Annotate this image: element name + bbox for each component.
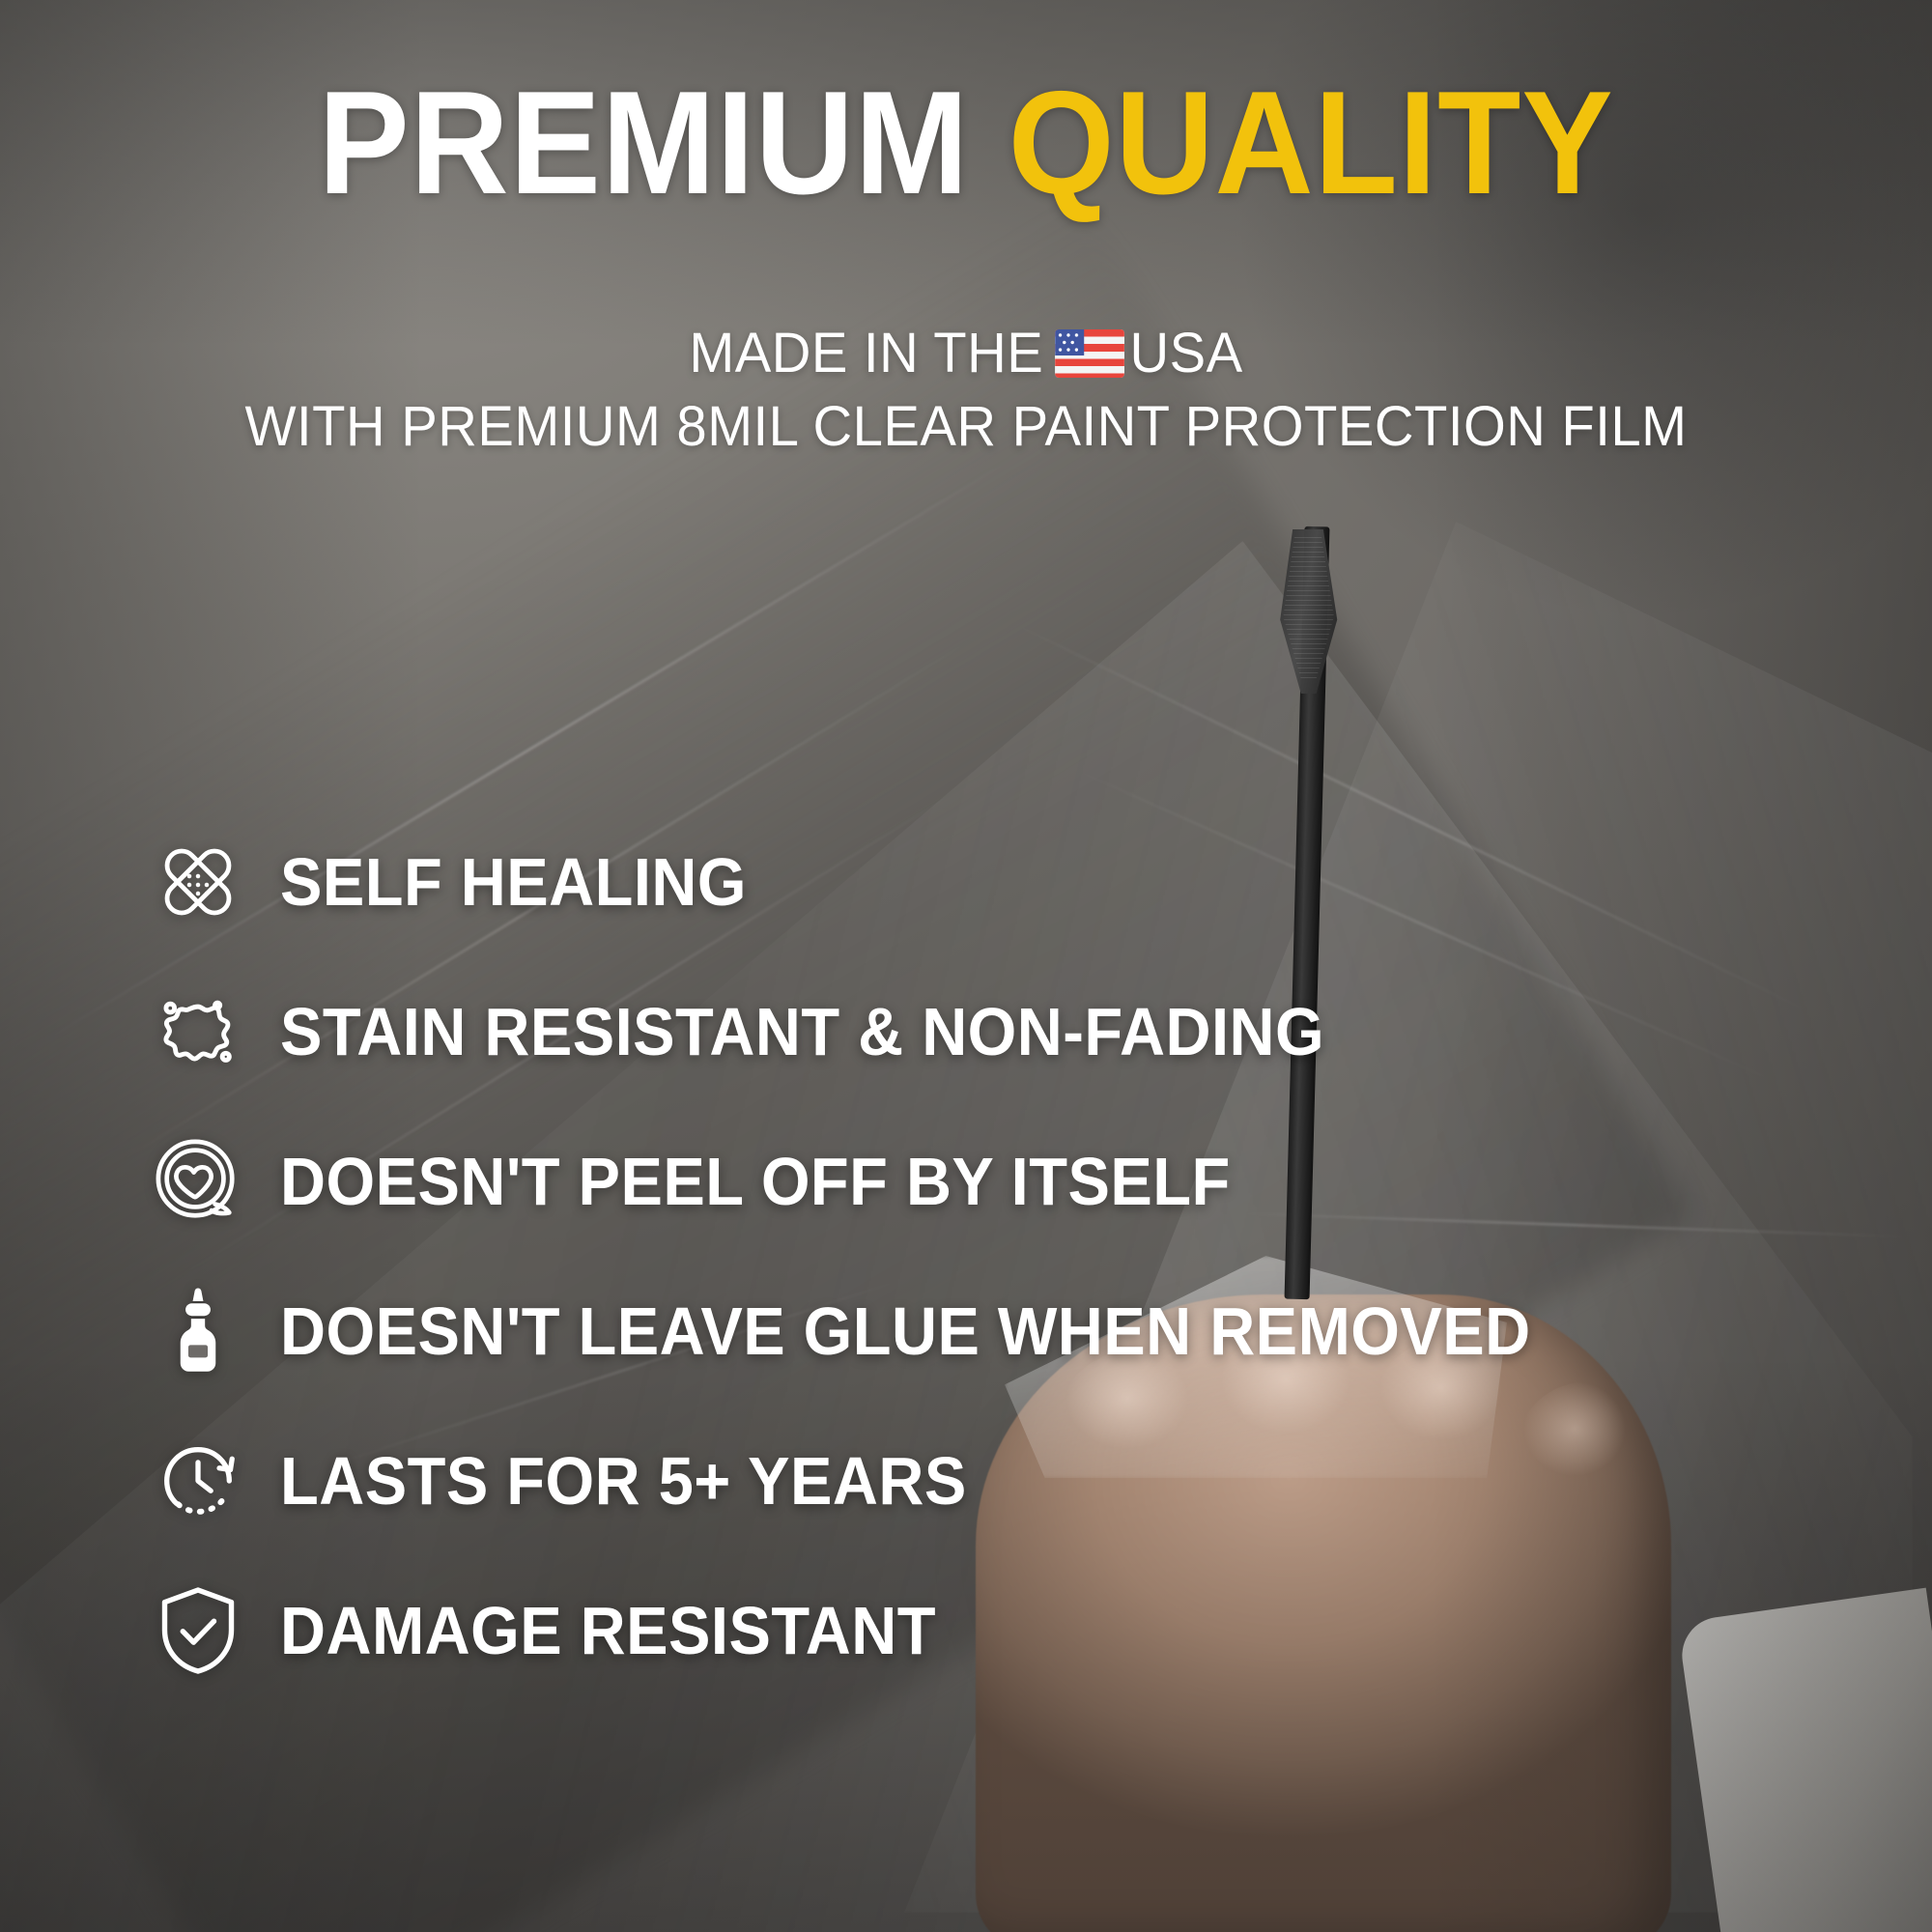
feature-item-damage-resistant: DAMAGE RESISTANT [145, 1555, 1787, 1705]
page-title: PREMIUM QUALITY [68, 70, 1864, 216]
feature-label: DOESN'T LEAVE GLUE WHEN REMOVED [280, 1293, 1531, 1370]
feature-label: LASTS FOR 5+ YEARS [280, 1442, 967, 1520]
page-title-primary: PREMIUM [318, 61, 1008, 225]
feature-item-lasts-5-years: LASTS FOR 5+ YEARS [145, 1406, 1787, 1555]
product-feature-graphic: PREMIUM QUALITY MADE IN THEUSA WITH PREM… [0, 0, 1932, 1932]
feature-label: STAIN RESISTANT & NON-FADING [280, 993, 1324, 1070]
clock-history-icon [145, 1428, 251, 1534]
bandage-icon [145, 829, 251, 935]
feature-item-no-peel: DOESN'T PEEL OFF BY ITSELF [145, 1106, 1787, 1256]
subtitle-made-in-the: MADE IN THE [689, 322, 1043, 384]
page-title-accent: QUALITY [1009, 61, 1614, 225]
feature-item-stain-resistant: STAIN RESISTANT & NON-FADING [145, 956, 1787, 1106]
shield-check-icon [145, 1577, 251, 1684]
feature-label: DAMAGE RESISTANT [280, 1592, 936, 1669]
subtitle-line-1: MADE IN THEUSA [29, 321, 1903, 385]
feature-item-no-glue-residue: DOESN'T LEAVE GLUE WHEN REMOVED [145, 1256, 1787, 1406]
glue-bottle-icon [145, 1278, 251, 1384]
feature-item-self-healing: SELF HEALING [145, 807, 1787, 956]
feature-list: SELF HEALING STAIN RESISTANT & NON-FADIN… [145, 807, 1787, 1705]
stain-splat-icon [145, 979, 251, 1085]
heart-peel-icon [145, 1128, 251, 1235]
subtitle-line-2: WITH PREMIUM 8MIL CLEAR PAINT PROTECTION… [29, 394, 1903, 459]
us-flag-icon [1055, 329, 1124, 378]
subtitle-usa: USA [1130, 322, 1243, 384]
feature-label: DOESN'T PEEL OFF BY ITSELF [280, 1143, 1231, 1220]
feature-label: SELF HEALING [280, 843, 747, 921]
